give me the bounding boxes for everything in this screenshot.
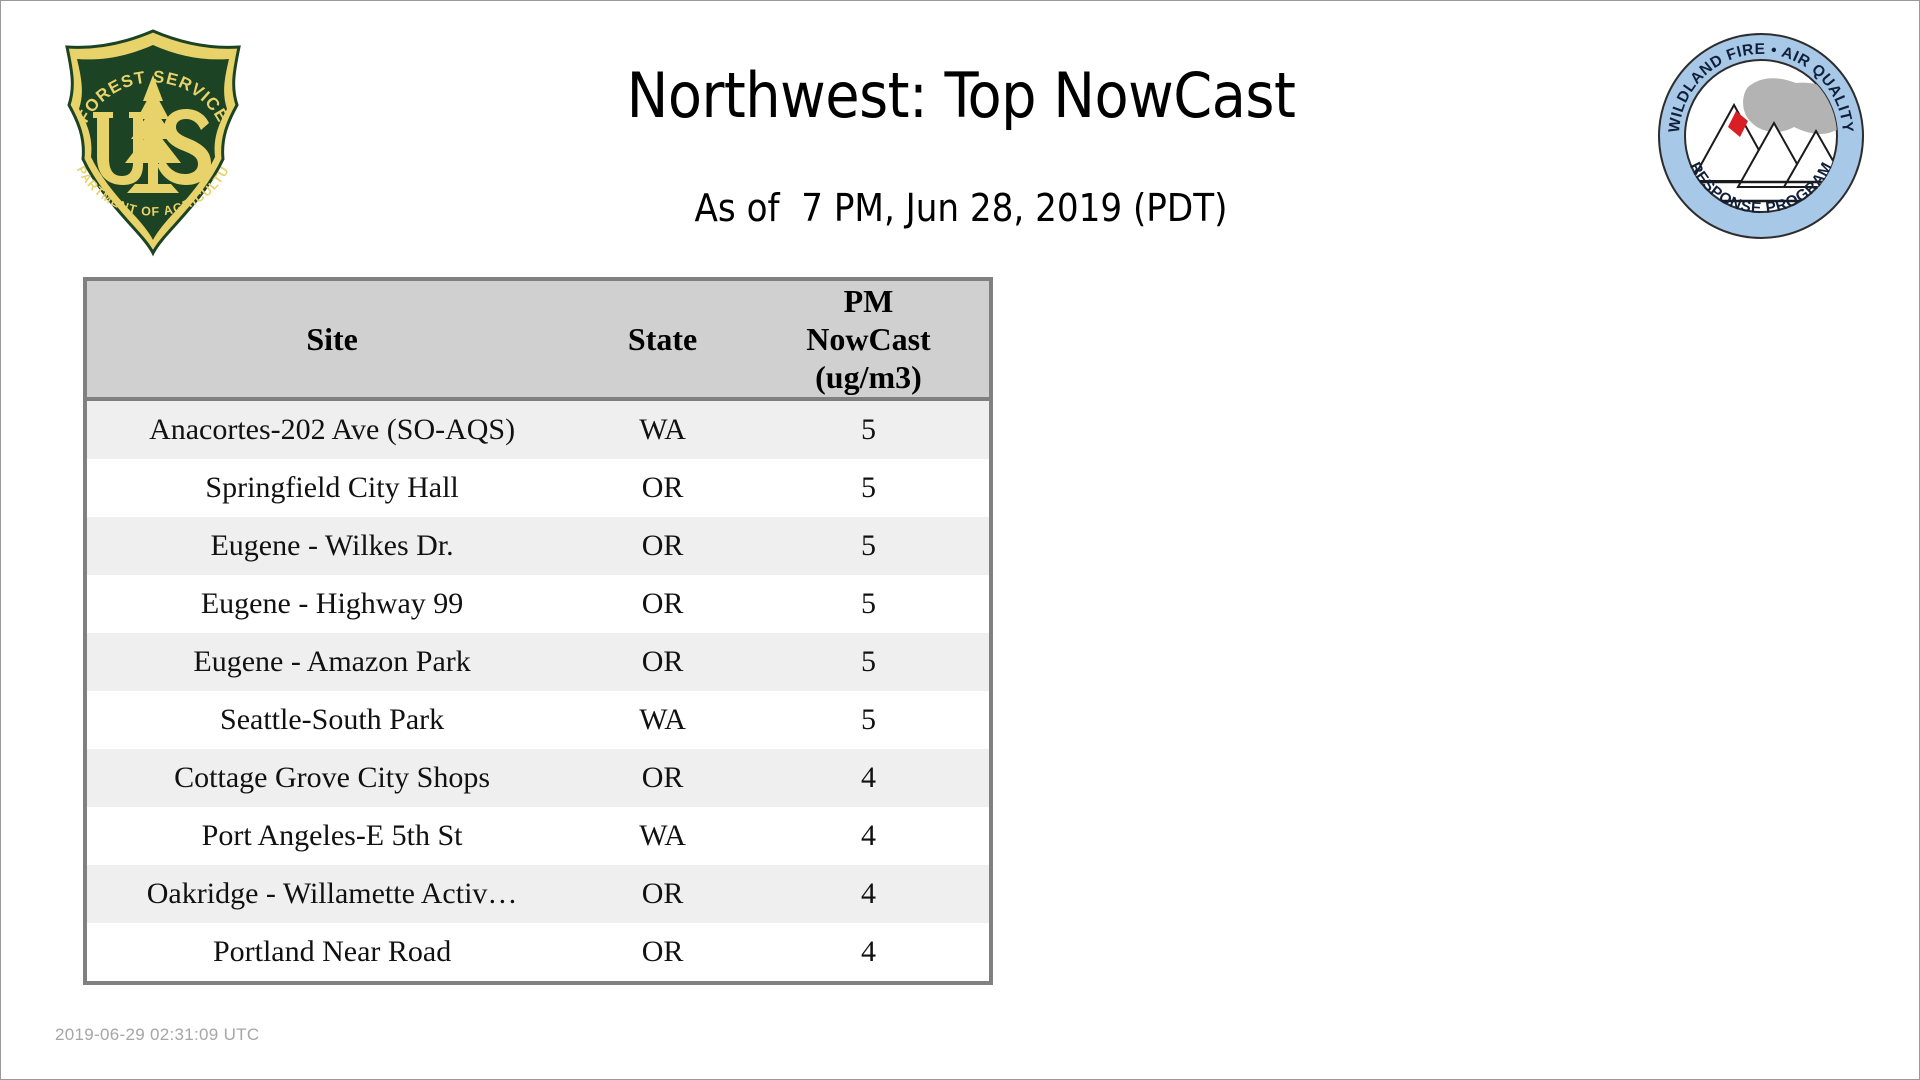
footer-timestamp: 2019-06-29 02:31:09 UTC	[55, 1025, 259, 1045]
table-row[interactable]: Seattle-South Park WA 5	[85, 691, 991, 749]
cell-pm: 4	[748, 807, 991, 865]
cell-pm: 5	[748, 691, 991, 749]
column-header-pm-nowcast[interactable]: PM NowCast (ug/m3)	[748, 279, 991, 399]
table-row[interactable]: Port Angeles-E 5th St WA 4	[85, 807, 991, 865]
slide-page: FOREST SERVICE DEPARTMENT OF AGRICULTURE	[0, 0, 1920, 1080]
table-body: Anacortes-202 Ave (SO-AQS) WA 5 Springfi…	[85, 399, 991, 983]
cell-state: WA	[577, 399, 748, 459]
cell-state: OR	[577, 865, 748, 923]
table-header-row: Site State PM NowCast (ug/m3)	[85, 279, 991, 399]
nowcast-table-container: Site State PM NowCast (ug/m3) Anacortes-…	[83, 277, 993, 985]
table-row[interactable]: Portland Near Road OR 4	[85, 923, 991, 983]
cell-site: Eugene - Wilkes Dr.	[85, 517, 577, 575]
table-row[interactable]: Anacortes-202 Ave (SO-AQS) WA 5	[85, 399, 991, 459]
column-header-state-label: State	[577, 320, 748, 358]
cell-state: WA	[577, 807, 748, 865]
cell-site: Eugene - Highway 99	[85, 575, 577, 633]
cell-site: Port Angeles-E 5th St	[85, 807, 577, 865]
cell-pm: 5	[748, 399, 991, 459]
cell-pm: 5	[748, 459, 991, 517]
cell-site: Oakridge - Willamette Activ…	[85, 865, 577, 923]
cell-site: Anacortes-202 Ave (SO-AQS)	[85, 399, 577, 459]
cell-site: Eugene - Amazon Park	[85, 633, 577, 691]
cell-state: OR	[577, 517, 748, 575]
cell-site: Portland Near Road	[85, 923, 577, 983]
column-header-pm-nowcast-label: PM NowCast (ug/m3)	[748, 282, 989, 396]
cell-state: OR	[577, 459, 748, 517]
page-subtitle: As of 7 PM, Jun 28, 2019 (PDT)	[301, 186, 1621, 230]
table-row[interactable]: Cottage Grove City Shops OR 4	[85, 749, 991, 807]
column-header-state[interactable]: State	[577, 279, 748, 399]
column-header-site[interactable]: Site	[85, 279, 577, 399]
cell-state: OR	[577, 749, 748, 807]
table-header: Site State PM NowCast (ug/m3)	[85, 279, 991, 399]
cell-site: Seattle-South Park	[85, 691, 577, 749]
cell-pm: 4	[748, 749, 991, 807]
cell-state: OR	[577, 575, 748, 633]
cell-pm: 5	[748, 575, 991, 633]
cell-site: Springfield City Hall	[85, 459, 577, 517]
usfs-shield-logo: FOREST SERVICE DEPARTMENT OF AGRICULTURE	[53, 27, 253, 257]
cell-pm: 5	[748, 633, 991, 691]
cell-state: OR	[577, 633, 748, 691]
column-header-site-label: Site	[87, 320, 577, 358]
table-row[interactable]: Eugene - Wilkes Dr. OR 5	[85, 517, 991, 575]
table-row[interactable]: Eugene - Highway 99 OR 5	[85, 575, 991, 633]
cell-pm: 4	[748, 923, 991, 983]
cell-site: Cottage Grove City Shops	[85, 749, 577, 807]
cell-state: OR	[577, 923, 748, 983]
table-row[interactable]: Oakridge - Willamette Activ… OR 4	[85, 865, 991, 923]
cell-state: WA	[577, 691, 748, 749]
page-title: Northwest: Top NowCast	[301, 61, 1621, 131]
table-row[interactable]: Springfield City Hall OR 5	[85, 459, 991, 517]
cell-pm: 5	[748, 517, 991, 575]
wildland-fire-air-quality-response-program-logo: WILDLAND FIRE • AIR QUALITY RESPONSE PRO…	[1656, 31, 1866, 241]
cell-pm: 4	[748, 865, 991, 923]
table-row[interactable]: Eugene - Amazon Park OR 5	[85, 633, 991, 691]
nowcast-table: Site State PM NowCast (ug/m3) Anacortes-…	[83, 277, 993, 985]
